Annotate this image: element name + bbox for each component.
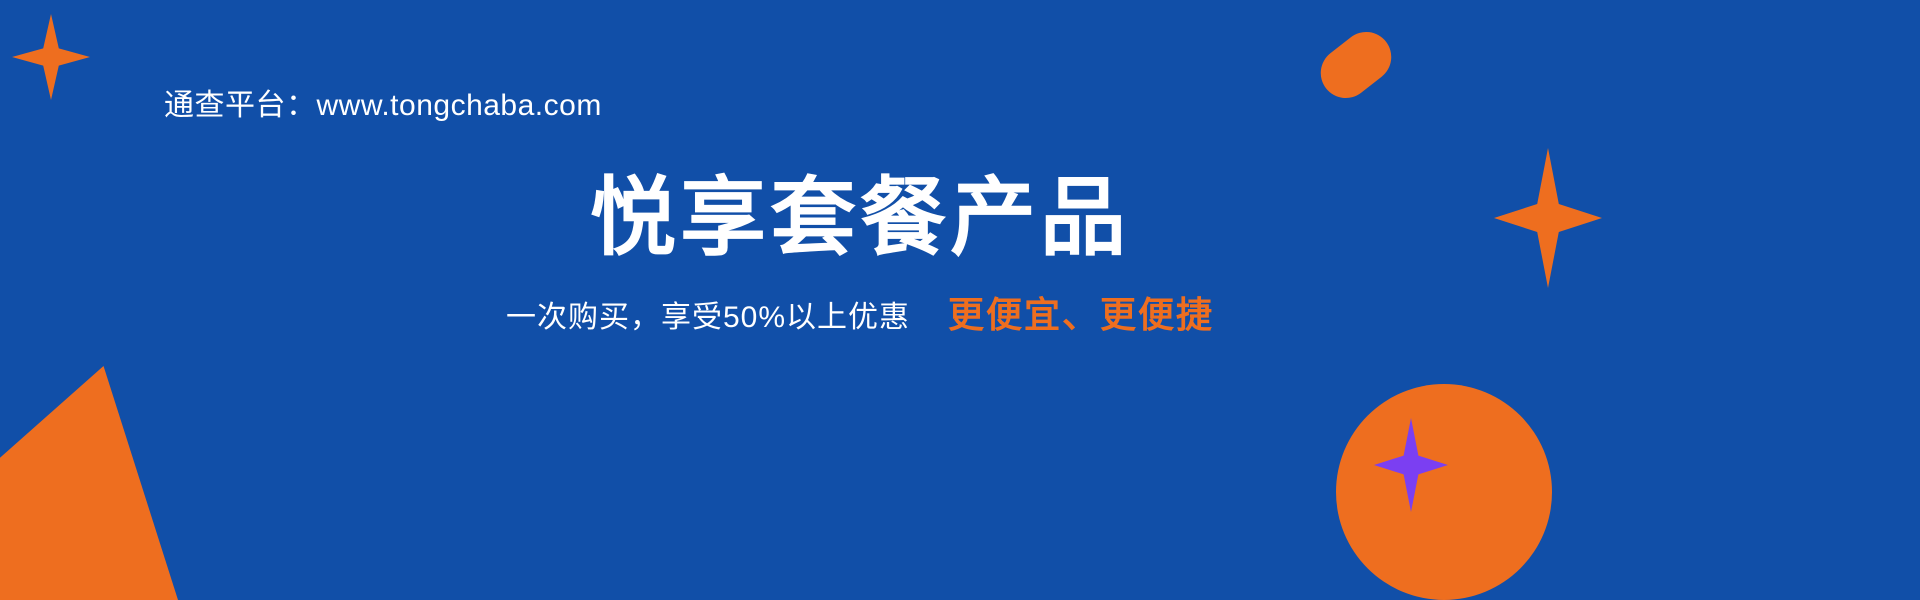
platform-url-line: 通查平台：www.tongchaba.com — [164, 84, 602, 128]
subtitle-highlight-text: 更便宜、更便捷 — [948, 292, 1214, 338]
banner-subtitle: 一次购买，享受50%以上优惠 更便宜、更便捷 — [0, 292, 1920, 341]
banner-title: 悦享套餐产品 — [0, 166, 1920, 270]
banner-content: 通查平台：www.tongchaba.com 悦享套餐产品 一次购买，享受50%… — [0, 0, 1920, 600]
platform-label: 通查平台： — [164, 89, 317, 122]
subtitle-offer-text: 一次购买，享受50%以上优惠 — [506, 295, 910, 341]
promo-banner: 通查平台：www.tongchaba.com 悦享套餐产品 一次购买，享受50%… — [0, 0, 1920, 600]
platform-url[interactable]: www.tongchaba.com — [317, 89, 602, 122]
